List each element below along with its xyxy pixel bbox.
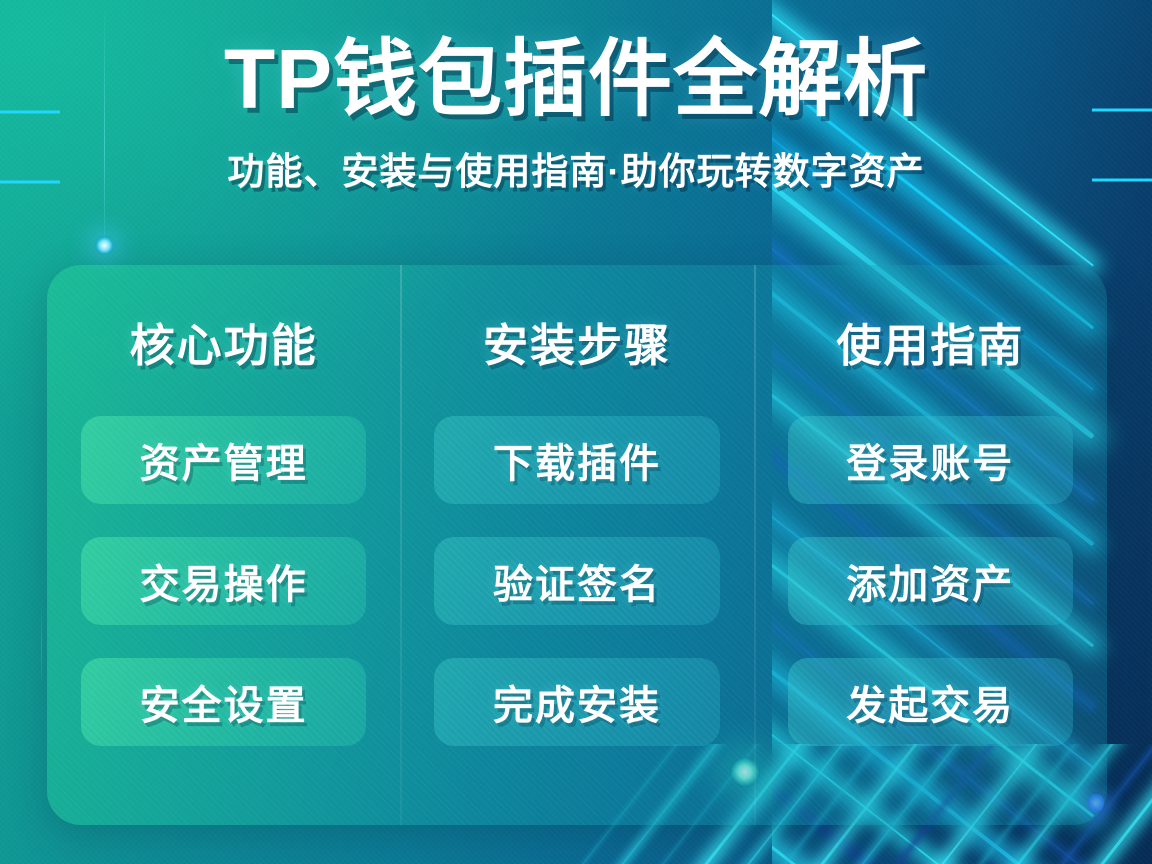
poster-canvas: TP钱包插件全解析 功能、安装与使用指南·助你玩转数字资产 核心功能 资产管理 … [0,0,1152,864]
poster-header: TP钱包插件全解析 功能、安装与使用指南·助你玩转数字资产 [0,34,1152,195]
pill-label: 发起交易 [846,673,1014,731]
page-title: TP钱包插件全解析 [0,34,1152,125]
feature-pill-transaction[interactable]: 交易操作 [81,537,366,625]
column-heading: 安装步骤 [483,309,671,374]
pill-label: 验证签名 [493,552,661,610]
accent-vertical-line-lower [41,600,42,680]
step-pill-verify-signature[interactable]: 验证签名 [434,537,719,625]
step-pill-download[interactable]: 下载插件 [434,416,719,504]
pill-label: 安全设置 [140,673,308,731]
pill-label: 交易操作 [140,552,308,610]
guide-pill-add-asset[interactable]: 添加资产 [788,537,1073,625]
glow-dot-top-icon [95,236,114,255]
pill-label: 完成安装 [493,673,661,731]
guide-pill-login[interactable]: 登录账号 [788,416,1073,504]
step-pill-finish-install[interactable]: 完成安装 [434,658,719,746]
column-core-features: 核心功能 资产管理 交易操作 安全设置 [47,265,400,825]
column-usage-guide: 使用指南 登录账号 添加资产 发起交易 [754,265,1107,825]
pill-label: 下载插件 [493,431,661,489]
column-heading: 核心功能 [130,309,318,374]
content-card: 核心功能 资产管理 交易操作 安全设置 安装步骤 下载插件 验证签名 完成安装 [47,265,1107,825]
guide-pill-send-transaction[interactable]: 发起交易 [788,658,1073,746]
column-heading: 使用指南 [836,309,1024,374]
feature-pill-asset-management[interactable]: 资产管理 [81,416,366,504]
column-install-steps: 安装步骤 下载插件 验证签名 完成安装 [400,265,753,825]
page-subtitle: 功能、安装与使用指南·助你玩转数字资产 [0,141,1152,195]
feature-pill-security[interactable]: 安全设置 [81,658,366,746]
pill-label: 登录账号 [846,431,1014,489]
pill-label: 资产管理 [140,431,308,489]
pill-label: 添加资产 [846,552,1014,610]
